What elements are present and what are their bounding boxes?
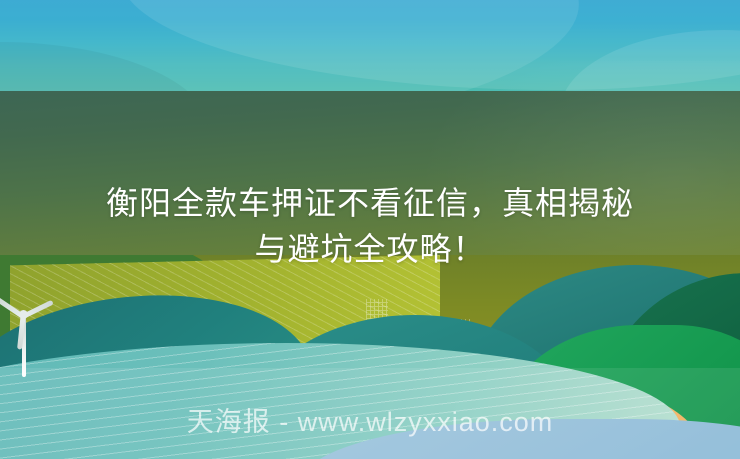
- page-title: 衡阳全款车押证不看征信，真相揭秘 与避坑全攻略！: [0, 180, 740, 272]
- landscape-illustration: [0, 255, 740, 459]
- turbine-hub: [19, 310, 28, 319]
- wind-turbine-icon: [2, 291, 58, 379]
- poster-canvas: 衡阳全款车押证不看征信，真相揭秘 与避坑全攻略！ 天海报 - www.wlzyx…: [0, 0, 740, 459]
